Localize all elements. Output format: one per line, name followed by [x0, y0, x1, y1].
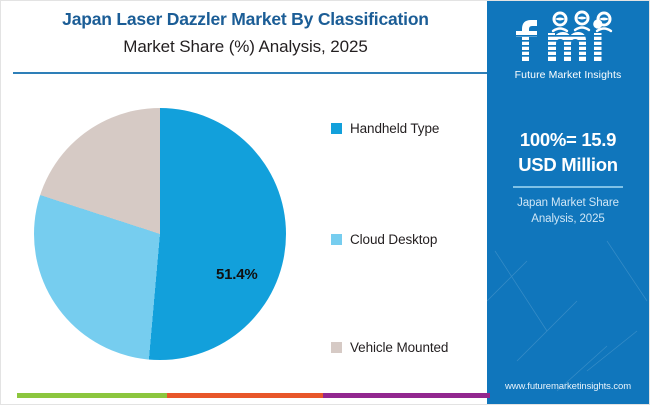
legend-item[interactable]: Handheld Type [331, 121, 439, 136]
pie-slice-label-handheld: 51.4% [216, 266, 258, 283]
legend-item[interactable]: Cloud Desktop [331, 232, 437, 247]
panel-caption: Japan Market Share Analysis, 2025 [487, 195, 649, 227]
legend-swatch-icon [331, 123, 342, 134]
pie-chart: 51.4% [34, 108, 286, 360]
header: Japan Laser Dazzler Market By Classifica… [1, 1, 490, 75]
legend-swatch-icon [331, 234, 342, 245]
header-divider [13, 72, 490, 74]
fmi-logo: Future Market Insights [487, 9, 649, 81]
legend-label: Cloud Desktop [350, 232, 437, 247]
panel-stat-line2: USD Million [487, 152, 649, 177]
infographic-card: Japan Laser Dazzler Market By Classifica… [0, 0, 650, 405]
legend-label: Handheld Type [350, 121, 439, 136]
strip-segment-purple [323, 393, 490, 398]
legend-label: Vehicle Mounted [350, 340, 448, 355]
pie-disc [34, 108, 286, 360]
fmi-logo-tagline: Future Market Insights [487, 69, 649, 81]
brand-panel: Future Market Insights 100%= 15.9 USD Mi… [487, 1, 649, 405]
website-url[interactable]: www.futuremarketinsights.com [487, 381, 649, 392]
legend-swatch-icon [331, 342, 342, 353]
fmi-logo-icon [508, 9, 628, 67]
chart-legend: Handheld TypeCloud DesktopVehicle Mounte… [331, 75, 491, 391]
panel-stat: 100%= 15.9 USD Million [487, 127, 649, 177]
chart-area: 51.4% Handheld TypeCloud DesktopVehicle … [1, 75, 490, 391]
page-title: Japan Laser Dazzler Market By Classifica… [1, 9, 490, 30]
legend-item[interactable]: Vehicle Mounted [331, 340, 448, 355]
panel-caption-line1: Japan Market Share [487, 195, 649, 211]
strip-segment-green [17, 393, 167, 398]
strip-segment-orange [167, 393, 323, 398]
panel-stat-line1: 100%= 15.9 [487, 127, 649, 152]
footer-color-strip [1, 393, 490, 398]
panel-caption-line2: Analysis, 2025 [487, 211, 649, 227]
page-subtitle: Market Share (%) Analysis, 2025 [1, 37, 490, 57]
panel-divider [513, 186, 623, 188]
